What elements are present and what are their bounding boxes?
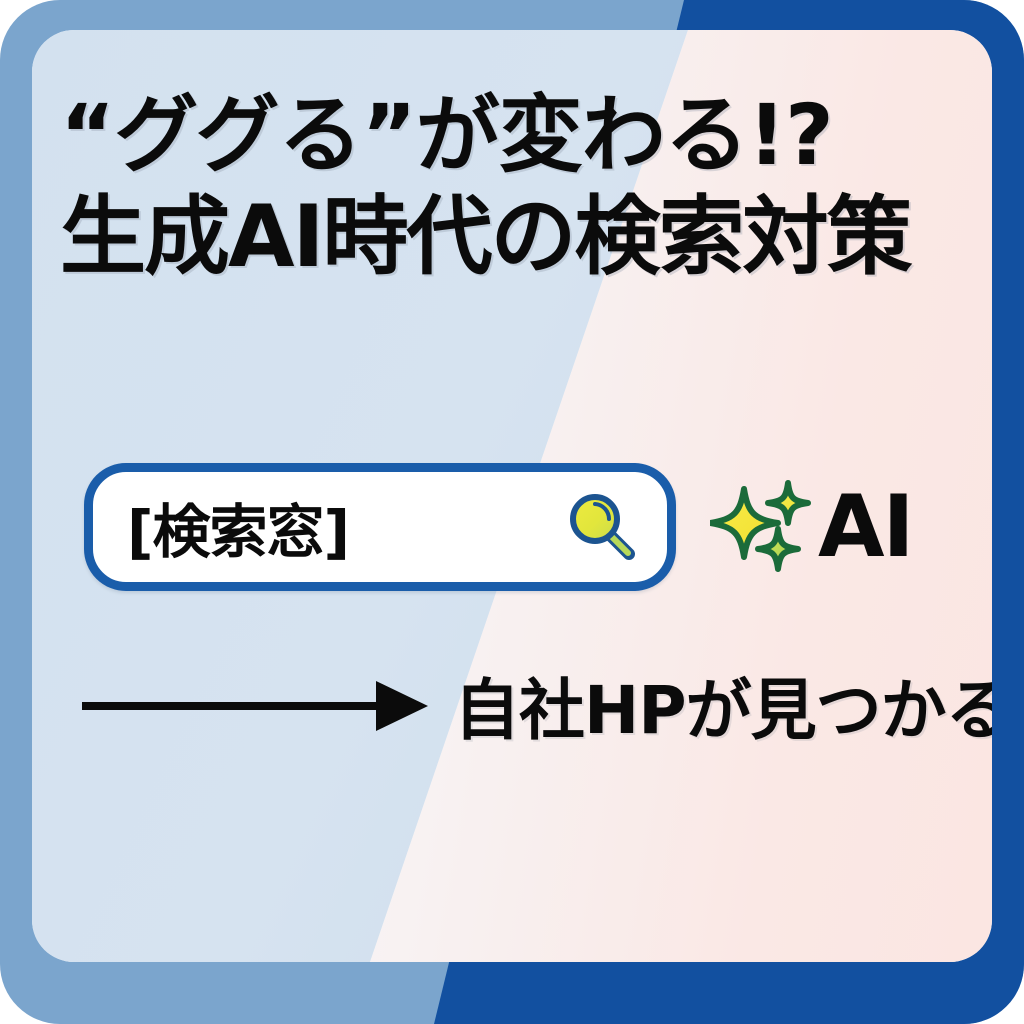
ai-badge: AI [710, 471, 913, 583]
headline-line-1: “ググる”が変わる!? [60, 92, 970, 179]
headline-line-2: 生成AI時代の検索対策 [60, 193, 970, 282]
ai-label: AI [818, 484, 913, 570]
search-row: [検索窓] [84, 452, 964, 602]
content-card: “ググる”が変わる!? 生成AI時代の検索対策 [検索窓] [32, 30, 992, 962]
result-caption: 自社HPが見つかる [454, 657, 992, 753]
card-content: “ググる”が変わる!? 生成AI時代の検索対策 [検索窓] [32, 30, 992, 962]
result-row: 自社HPが見つかる [80, 650, 970, 760]
sparkles-icon [710, 471, 822, 583]
poster-root: “ググる”が変わる!? 生成AI時代の検索対策 [検索窓] [0, 0, 1024, 1024]
magnifying-glass-icon[interactable] [565, 489, 641, 565]
right-arrow-icon [80, 675, 432, 735]
page-title: “ググる”が変わる!? 生成AI時代の検索対策 [60, 92, 970, 283]
search-input[interactable]: [検索窓] [84, 463, 676, 591]
search-input-value[interactable]: [検索窓] [127, 485, 565, 569]
